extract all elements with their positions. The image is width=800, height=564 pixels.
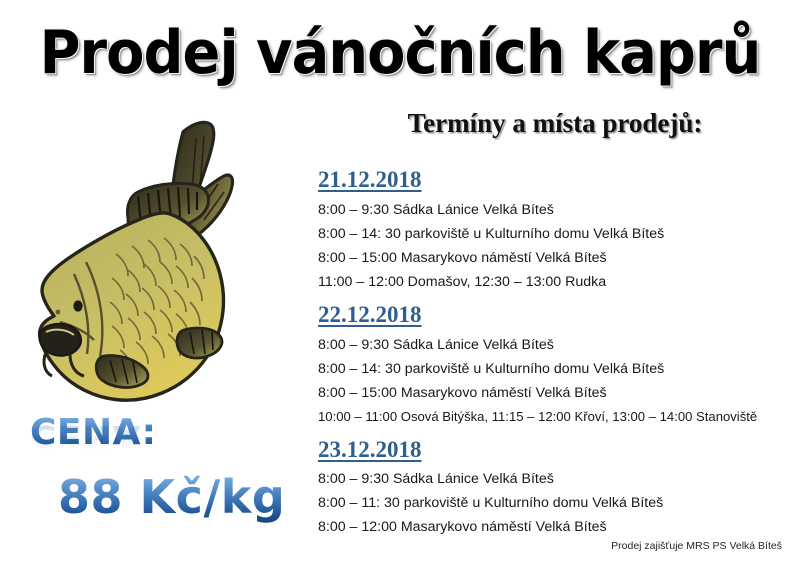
schedule-entry: 10:00 – 11:00 Osová Bitýška, 11:15 – 12:… <box>318 405 794 429</box>
carp-fish-illustration <box>20 118 310 413</box>
fish-anal-fin <box>177 328 222 358</box>
schedule-subtitle: Termíny a místa prodejů: <box>330 108 780 139</box>
schedule-block: 23.12.2018 8:00 – 9:30 Sádka Lánice Velk… <box>318 436 794 540</box>
schedule-block: 22.12.2018 8:00 – 9:30 Sádka Lánice Velk… <box>318 301 794 429</box>
fish-nostril <box>56 310 61 315</box>
price-value-group: 88 Kč/kg <box>58 470 308 530</box>
price-value: 88 Kč/kg <box>58 470 285 524</box>
schedule-list: 21.12.2018 8:00 – 9:30 Sádka Lánice Velk… <box>318 166 794 546</box>
poster-canvas: Prodej vánočních kaprů <box>0 0 800 564</box>
price-label-group: CENA: CENA: <box>30 412 210 474</box>
schedule-date-heading: 23.12.2018 <box>318 436 422 465</box>
price-label-reflection: CENA: <box>30 418 157 453</box>
page-title: Prodej vánočních kaprů <box>28 22 772 85</box>
schedule-entry: 8:00 – 12:00 Masarykovo náměstí Velká Bí… <box>318 515 794 539</box>
schedule-entry: 8:00 – 14: 30 parkoviště u Kulturního do… <box>318 357 794 381</box>
schedule-entry: 8:00 – 15:00 Masarykovo náměstí Velká Bí… <box>318 246 794 270</box>
carp-fish-icon <box>20 118 310 413</box>
schedule-date-heading: 21.12.2018 <box>318 166 422 195</box>
schedule-entry: 8:00 – 9:30 Sádka Lánice Velká Bíteš <box>318 198 794 222</box>
schedule-entry: 8:00 – 11: 30 parkoviště u Kulturního do… <box>318 491 794 515</box>
schedule-entry: 8:00 – 14: 30 parkoviště u Kulturního do… <box>318 222 794 246</box>
schedule-entry: 11:00 – 12:00 Domašov, 12:30 – 13:00 Rud… <box>318 270 794 294</box>
fish-mouth <box>40 324 81 356</box>
organizer-footnote: Prodej zajišťuje MRS PS Velká Bíteš <box>611 540 782 552</box>
schedule-entry: 8:00 – 9:30 Sádka Lánice Velká Bíteš <box>318 467 794 491</box>
schedule-date-heading: 22.12.2018 <box>318 301 422 330</box>
schedule-entry: 8:00 – 9:30 Sádka Lánice Velká Bíteš <box>318 333 794 357</box>
schedule-block: 21.12.2018 8:00 – 9:30 Sádka Lánice Velk… <box>318 166 794 294</box>
schedule-entry: 8:00 – 15:00 Masarykovo náměstí Velká Bí… <box>318 381 794 405</box>
fish-eye <box>73 300 82 311</box>
